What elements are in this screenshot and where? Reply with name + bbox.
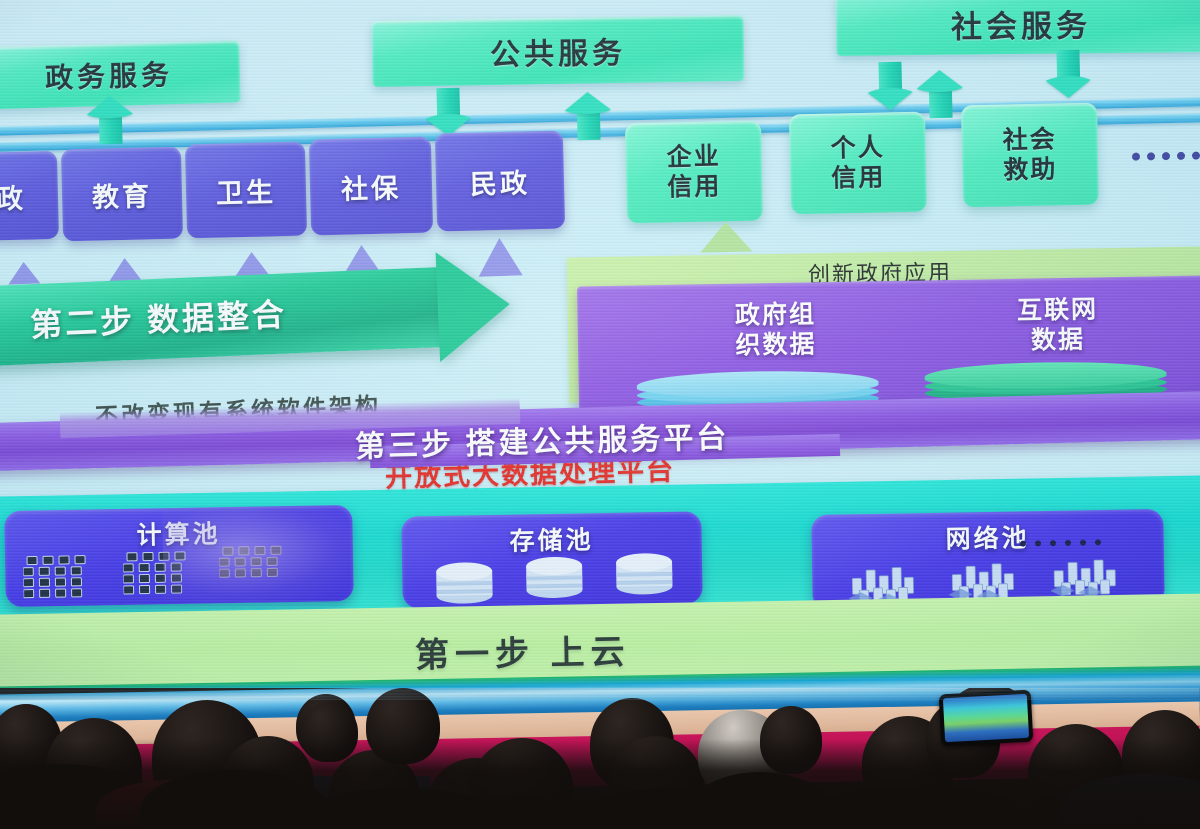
arrow-up-icon bbox=[559, 91, 616, 140]
step1-label: 第一步 上云 bbox=[415, 624, 631, 677]
server-rack-icon bbox=[219, 544, 316, 592]
data-source-line1: 互联网 bbox=[1017, 295, 1098, 324]
data-source-line1: 政府组 bbox=[735, 300, 816, 329]
server-rack-icon bbox=[123, 549, 220, 597]
credit-box-social-aid: 社会 救助 bbox=[961, 103, 1099, 208]
credit-box-line2: 救助 bbox=[1003, 154, 1058, 186]
phone-screen bbox=[943, 694, 1029, 742]
projection-screen: 政务服务 公共服务 社会服务 政 教育 卫生 社保 民政 企业 信用 bbox=[0, 0, 1200, 700]
arrow-down-icon bbox=[419, 87, 476, 136]
credit-box-personal: 个人 信用 bbox=[789, 112, 927, 215]
data-source-label-government: 政府组 织数据 bbox=[695, 300, 856, 362]
data-source-line2: 数据 bbox=[1031, 325, 1085, 354]
arrow-up-icon bbox=[81, 95, 138, 144]
audience-foreground-shadow bbox=[0, 739, 1200, 829]
feeder-arrow-icon bbox=[8, 261, 41, 284]
database-cylinder-icon bbox=[522, 553, 587, 600]
data-sources-panel: 政府组 织数据 互联网 数据 bbox=[577, 275, 1200, 410]
network-node-icon bbox=[946, 553, 1031, 602]
dept-box-truncated: 政 bbox=[0, 151, 59, 241]
credit-box-line1: 社会 bbox=[1002, 124, 1057, 156]
network-node-icon bbox=[1048, 549, 1133, 598]
arrow-up-icon bbox=[911, 69, 968, 118]
step2-arrow-banner: 第二步 数据整合 bbox=[0, 263, 531, 366]
ellipsis-dots-top bbox=[1132, 151, 1200, 160]
credit-box-line1: 企业 bbox=[666, 141, 721, 173]
pool-compute: 计算池 bbox=[4, 505, 354, 607]
credit-box-line1: 个人 bbox=[830, 132, 885, 164]
dept-box-education: 教育 bbox=[61, 147, 183, 242]
dept-box-health: 卫生 bbox=[185, 142, 307, 239]
pool-storage: 存储池 bbox=[401, 511, 703, 608]
credit-box-line2: 信用 bbox=[831, 162, 886, 194]
database-cylinder-icon bbox=[432, 559, 497, 606]
service-banner-public: 公共服务 bbox=[372, 15, 745, 87]
smartphone[interactable] bbox=[939, 690, 1034, 747]
arrow-down-icon bbox=[861, 61, 918, 110]
arrow-down-icon bbox=[1039, 49, 1096, 98]
service-banner-social: 社会服务 bbox=[836, 0, 1200, 56]
server-rack-icon bbox=[23, 553, 120, 601]
credit-box-enterprise: 企业 信用 bbox=[625, 121, 763, 224]
credit-box-line2: 信用 bbox=[667, 171, 722, 203]
dept-box-civil-affairs: 民政 bbox=[435, 130, 565, 231]
arrow-right-icon bbox=[436, 249, 513, 362]
data-source-label-internet: 互联网 数据 bbox=[977, 295, 1138, 357]
feeder-arrow-icon bbox=[700, 221, 753, 252]
dept-box-social-security: 社保 bbox=[309, 137, 433, 236]
database-cylinder-icon bbox=[612, 550, 677, 597]
screenshot-root: 政务服务 公共服务 社会服务 政 教育 卫生 社保 民政 企业 信用 bbox=[0, 0, 1200, 829]
data-source-line2: 织数据 bbox=[735, 330, 816, 359]
